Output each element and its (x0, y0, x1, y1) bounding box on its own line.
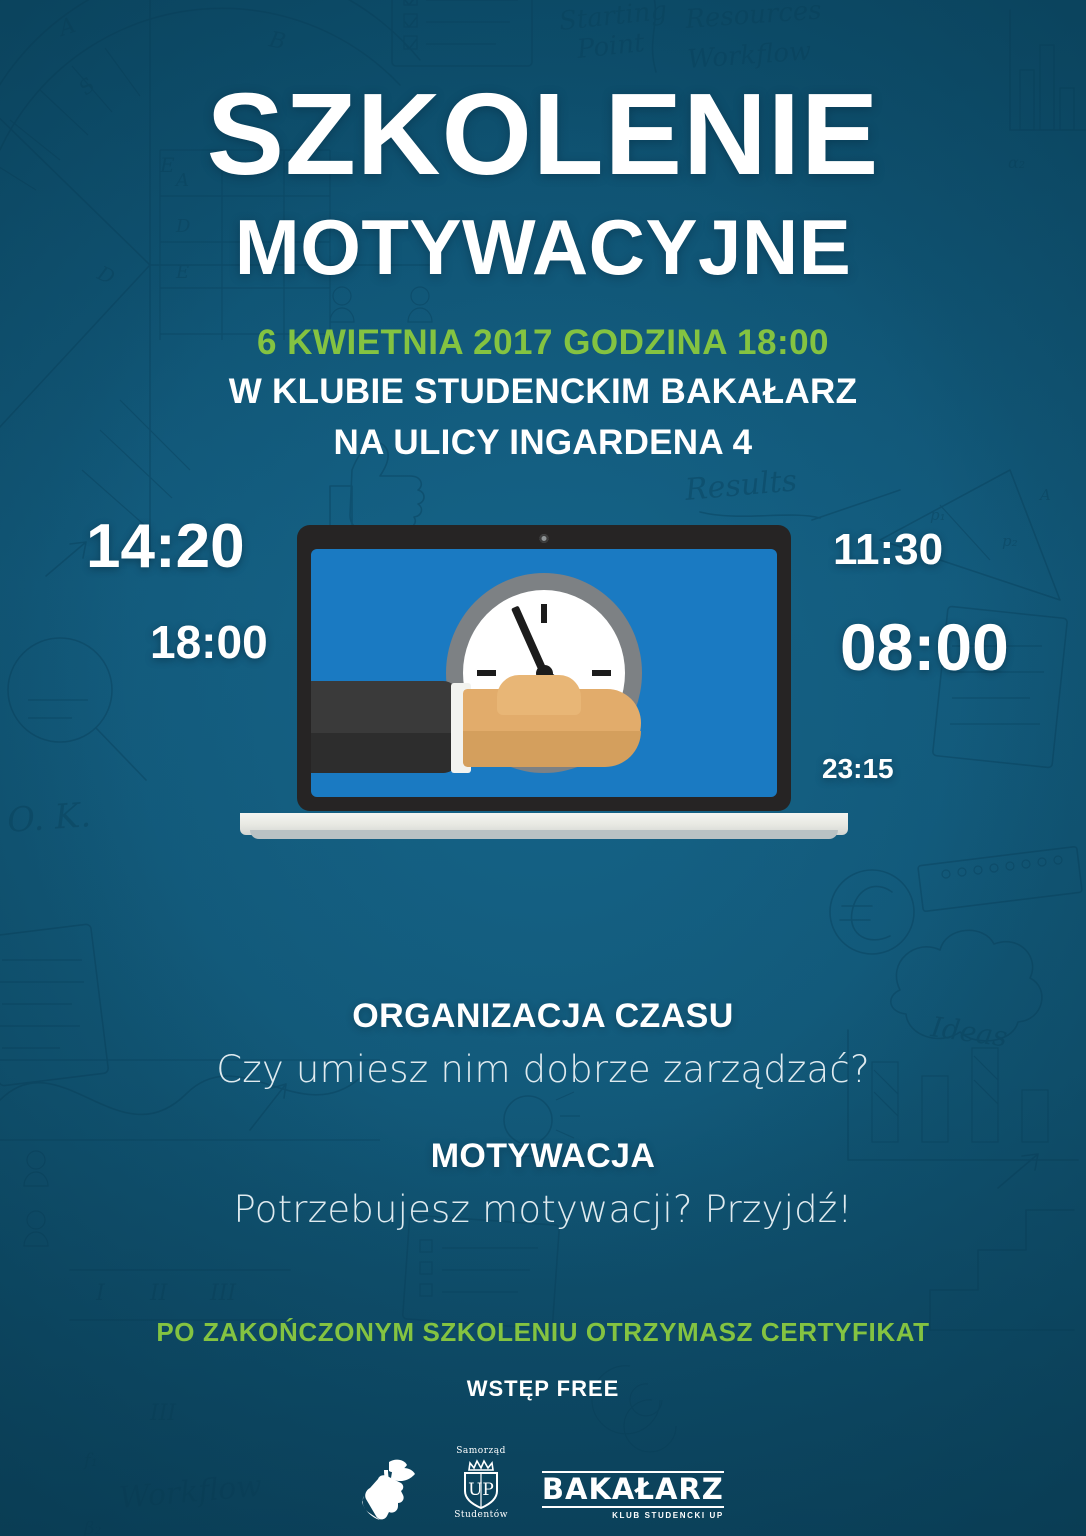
topics-spacer (0, 1091, 1086, 1137)
poster: A B S E D Starting Point Resources Workf… (0, 0, 1086, 1536)
certificate-note: PO ZAKOŃCZONYM SZKOLENIU OTRZYMASZ CERTY… (0, 1317, 1086, 1348)
time-label-1: 14:20 (86, 511, 245, 582)
hand-leaf-logo (362, 1458, 420, 1520)
laptop-illustration (240, 525, 848, 855)
laptop-screen (311, 549, 777, 797)
footer-text: PO ZAKOŃCZONYM SZKOLENIU OTRZYMASZ CERTY… (0, 1317, 1086, 1402)
event-details: 6 KWIETNIA 2017 GODZINA 18:00 W KLUBIE S… (0, 322, 1086, 465)
hand-holding-clock-icon (311, 671, 641, 783)
thumb (497, 675, 581, 715)
suit-sleeve-shadow (311, 733, 459, 773)
page-title-line2: MOTYWACYJNE (0, 208, 1086, 286)
event-venue-line1: W KLUBIE STUDENCKIM BAKAŁARZ (0, 371, 1086, 414)
club-subtitle: KLUB STUDENCKI UP (612, 1511, 724, 1520)
webcam-dot-icon (540, 534, 549, 543)
admission-note: WSTĘP FREE (0, 1376, 1086, 1402)
sponsor-logos: Samorząd UP Studentów BAKAŁARZ KLUB STUD… (0, 1447, 1086, 1520)
laptop-lid (297, 525, 791, 811)
hand-leaf-icon (362, 1458, 420, 1520)
event-date: 6 KWIETNIA 2017 GODZINA 18:00 (0, 322, 1086, 363)
topic-subtitle-1: Czy umiesz nim dobrze zarządzać? (0, 1048, 1086, 1091)
up-crest-icon: UP (457, 1457, 505, 1509)
topic-subtitle-2: Potrzebujesz motywacji? Przyjdź! (0, 1188, 1086, 1231)
topic-heading-1: ORGANIZACJA CZASU (0, 997, 1086, 1036)
palm-shadow (463, 731, 641, 767)
crest-top-text: Samorząd (456, 1447, 506, 1456)
bakalarz-logo: BAKAŁARZ KLUB STUDENCKI UP (542, 1471, 724, 1520)
club-name: BAKAŁARZ (542, 1471, 724, 1508)
crest-letters: UP (468, 1480, 494, 1500)
topics-section: ORGANIZACJA CZASU Czy umiesz nim dobrze … (0, 997, 1086, 1231)
laptop-base-lip (250, 830, 838, 839)
crest-bottom-text: Studentów (454, 1511, 508, 1520)
student-government-logo: Samorząd UP Studentów (454, 1447, 508, 1520)
topic-heading-2: MOTYWACJA (0, 1137, 1086, 1176)
illustration-area: 14:20 18:00 11:30 08:00 23:15 (0, 489, 1086, 919)
page-title-line1: SZKOLENIE (0, 0, 1086, 192)
clock-tick-12 (541, 604, 547, 623)
event-venue-line2: NA ULICY INGARDENA 4 (0, 422, 1086, 465)
time-label-3: 11:30 (833, 525, 943, 575)
time-label-4: 08:00 (840, 609, 1009, 685)
